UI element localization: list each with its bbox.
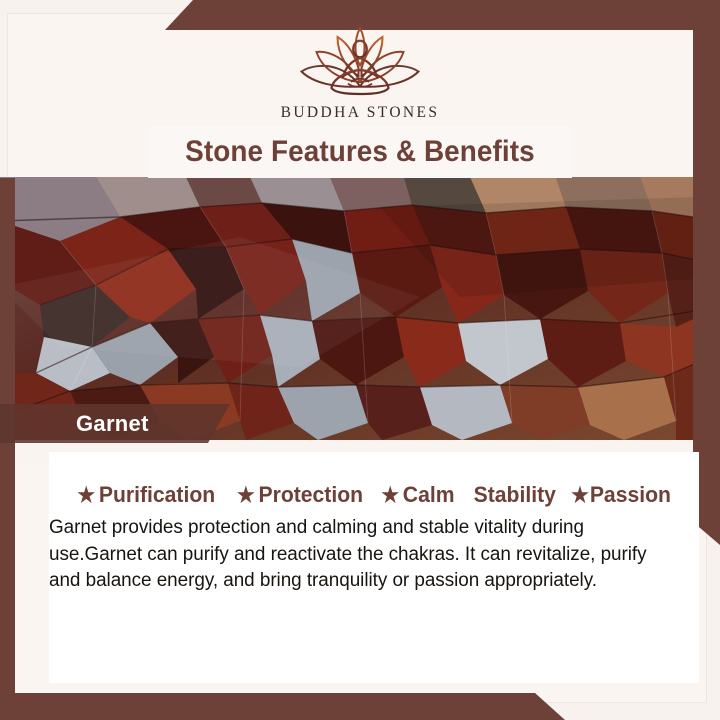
stone-photo [0,177,720,440]
stone-description: Garnet provides protection and calming a… [49,514,670,594]
brand-name: BUDDHA STONES [0,104,720,122]
stone-name: Garnet [76,411,149,437]
benefit-label: Protection [258,482,363,508]
page-title: Stone Features & Benefits [185,135,535,169]
lotus-meditation-icon [284,22,436,100]
benefit-label: Purification [99,482,215,508]
star-icon: ★ [237,485,255,506]
brand-block: BUDDHA STONES [0,22,720,122]
frame-left-bar [0,178,15,720]
stone-benefits-poster: BUDDHA STONES Stone Features & Benefits [0,0,720,720]
content-panel: ★ Purification ★ Protection ★ Calm Stabi… [49,452,699,683]
benefit-item: ★ Purification [78,482,216,508]
benefit-label: Calm [403,482,455,508]
benefit-item: Stability [474,482,556,508]
star-icon: ★ [572,485,590,506]
title-plate: Stone Features & Benefits [148,126,572,178]
benefit-label: Passion [590,482,671,508]
stone-name-banner: Garnet [0,404,230,443]
benefits-row: ★ Purification ★ Protection ★ Calm Stabi… [49,482,699,508]
star-icon: ★ [381,485,399,506]
benefit-item: ★ Passion [572,482,672,508]
benefit-item: ★ Calm [381,482,454,508]
benefit-item: ★ Protection [237,482,363,508]
star-icon: ★ [78,485,96,506]
benefit-label: Stability [474,482,556,508]
